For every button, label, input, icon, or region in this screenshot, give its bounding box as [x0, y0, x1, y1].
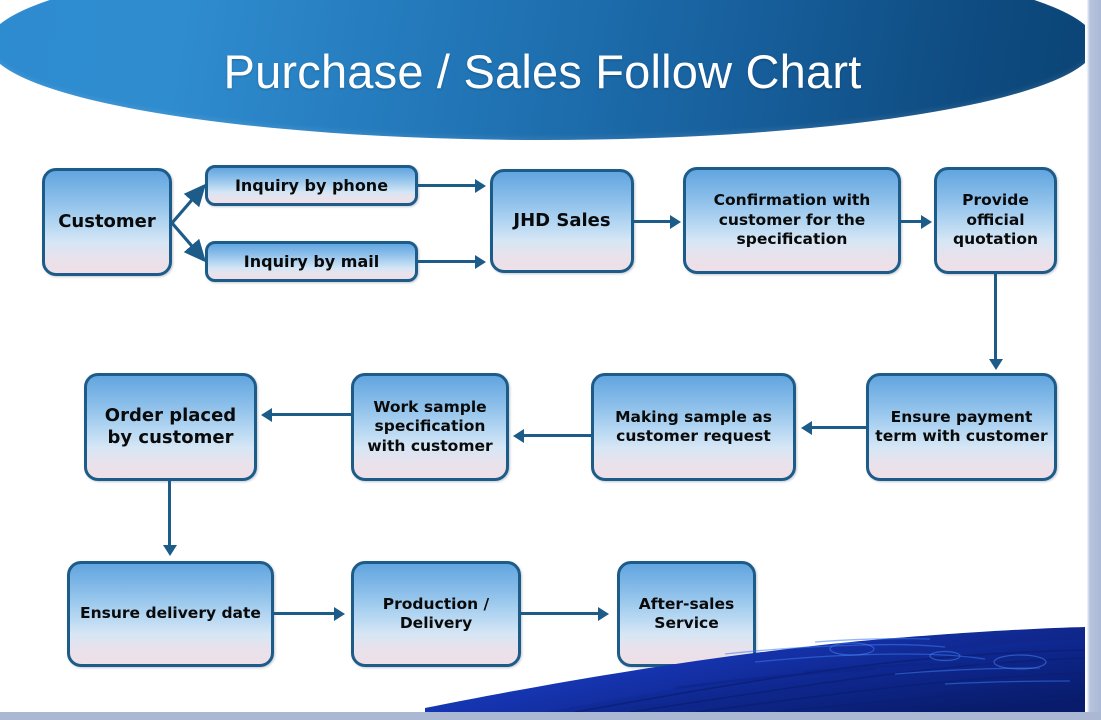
arrow-work-sample-to-order-placed-head: [261, 408, 272, 422]
node-provide-official-quotation[interactable]: Provide official quotation: [934, 167, 1057, 274]
node-work-sample-specification[interactable]: Work sample specification with customer: [351, 373, 509, 481]
node-inquiry-by-phone-label: Inquiry by phone: [235, 176, 388, 196]
node-ensure-delivery-date[interactable]: Ensure delivery date: [67, 561, 274, 667]
arrow-payment-to-making-sample-line: [812, 426, 866, 429]
node-production-delivery-label: Production / Delivery: [360, 595, 512, 634]
arrow-payment-to-making-sample-head: [801, 421, 812, 435]
node-ensure-payment-term-label: Ensure payment term with customer: [875, 408, 1048, 447]
node-inquiry-by-mail-label: Inquiry by mail: [244, 252, 379, 272]
arrow-production-to-after-sales-line: [521, 612, 600, 615]
arrow-making-sample-to-work-sample-head: [513, 429, 524, 443]
node-customer-label: Customer: [58, 211, 156, 234]
arrow-delivery-date-to-production-head: [334, 607, 345, 621]
arrow-jhd-to-confirmation-line: [634, 220, 672, 223]
arrow-work-sample-to-order-placed-line: [272, 413, 351, 416]
node-jhd-sales[interactable]: JHD Sales: [490, 169, 634, 273]
node-work-sample-specification-label: Work sample specification with customer: [360, 398, 500, 456]
arrow-jhd-to-confirmation-head: [670, 215, 681, 229]
node-confirmation-with-customer[interactable]: Confirmation with customer for the speci…: [683, 167, 901, 274]
node-after-sales-service-label: After-sales Service: [626, 595, 747, 634]
node-jhd-sales-label: JHD Sales: [513, 210, 610, 233]
arrow-inquiry-phone-to-jhd-head: [475, 179, 486, 193]
arrow-customer-to-inquiry-mail: [170, 220, 214, 272]
node-order-placed-by-customer[interactable]: Order placed by customer: [84, 373, 257, 481]
arrow-inquiry-phone-to-jhd-line: [418, 184, 476, 187]
node-inquiry-by-mail[interactable]: Inquiry by mail: [205, 241, 418, 282]
node-after-sales-service[interactable]: After-sales Service: [617, 561, 756, 667]
slide-canvas: Purchase / Sales Follow Chart Customer I…: [0, 0, 1101, 720]
arrow-order-placed-to-delivery-date-line: [168, 481, 171, 547]
arrow-inquiry-mail-to-jhd-line: [418, 260, 476, 263]
arrow-making-sample-to-work-sample-line: [524, 434, 591, 437]
node-confirmation-with-customer-label: Confirmation with customer for the speci…: [692, 191, 892, 249]
node-production-delivery[interactable]: Production / Delivery: [351, 561, 521, 667]
arrow-quotation-to-payment-head: [989, 359, 1003, 370]
arrow-confirmation-to-quotation-head: [921, 215, 932, 229]
slide-frame-right-edge: [1085, 0, 1101, 720]
slide-frame-bottom-edge: [0, 712, 1101, 720]
node-ensure-delivery-date-label: Ensure delivery date: [80, 604, 261, 623]
arrow-inquiry-mail-to-jhd-head: [475, 255, 486, 269]
arrow-production-to-after-sales-head: [598, 607, 609, 621]
slide-content-area: Purchase / Sales Follow Chart Customer I…: [0, 0, 1085, 712]
node-order-placed-by-customer-label: Order placed by customer: [93, 405, 248, 450]
node-ensure-payment-term[interactable]: Ensure payment term with customer: [866, 373, 1057, 481]
node-customer[interactable]: Customer: [42, 168, 172, 276]
arrow-order-placed-to-delivery-date-head: [163, 545, 177, 556]
node-making-sample-label: Making sample as customer request: [600, 408, 787, 447]
arrow-quotation-to-payment-line: [994, 274, 997, 361]
node-making-sample[interactable]: Making sample as customer request: [591, 373, 796, 481]
arrow-delivery-date-to-production-line: [274, 612, 336, 615]
node-provide-official-quotation-label: Provide official quotation: [943, 191, 1048, 249]
node-inquiry-by-phone[interactable]: Inquiry by phone: [205, 165, 418, 206]
page-title: Purchase / Sales Follow Chart: [0, 44, 1085, 99]
